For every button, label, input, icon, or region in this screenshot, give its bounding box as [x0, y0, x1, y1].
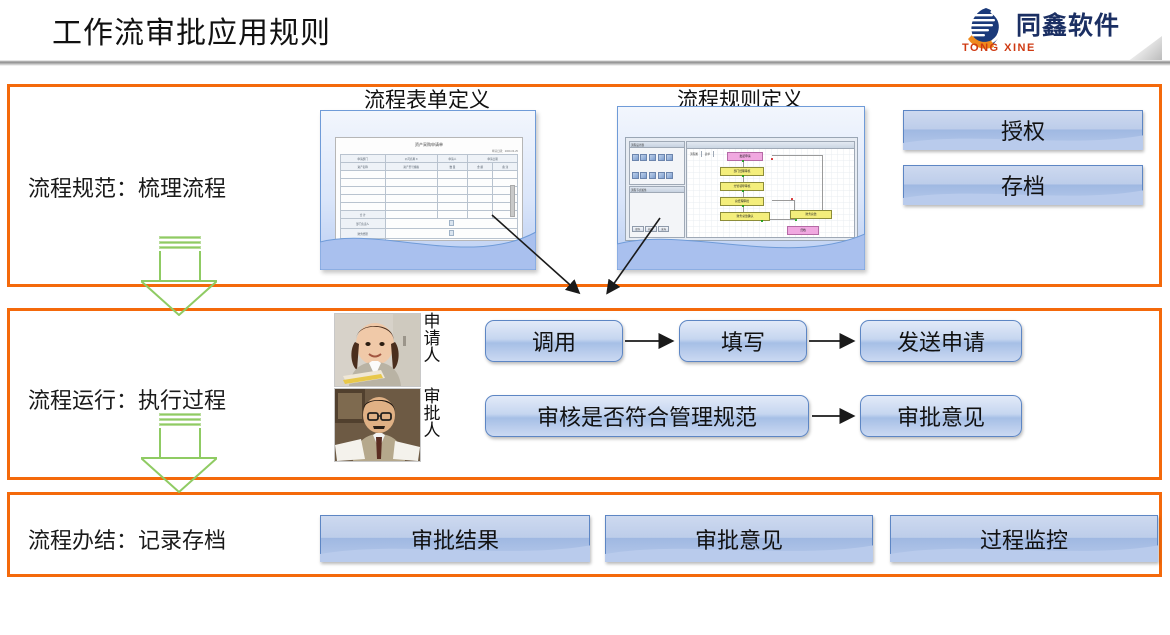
arrow-stem — [159, 251, 201, 281]
approval-result-button-label: 审批结果 — [411, 523, 499, 555]
compliance-check-button-label: 审核是否符合管理规范 — [537, 400, 757, 432]
connector — [772, 155, 822, 156]
arrow-stem — [159, 428, 201, 458]
designer-tabs: 流程图表单 — [687, 142, 854, 149]
port-dot — [742, 205, 744, 207]
tab-flowchart[interactable]: 流程图 — [687, 151, 702, 156]
send-application-button[interactable]: 发送申请 — [860, 320, 1022, 362]
rule-definition-thumbnail[interactable]: 流程设计器 流程节点属性 保存校验发布 流程图表单 — [617, 106, 865, 270]
approver-role-label: 审批人 — [421, 387, 439, 438]
page-header: 工作流审批应用规则 同鑫软件 TONG XINE — [0, 0, 1170, 62]
cell — [437, 211, 467, 219]
port-dot — [761, 220, 763, 222]
cell: 资产型号规格 — [385, 163, 437, 171]
cell — [437, 203, 467, 211]
cell — [493, 171, 518, 179]
cell — [437, 179, 467, 187]
form-screenshot-date: 申请日期：2009-03-25 — [336, 149, 522, 153]
cell — [468, 171, 493, 179]
table-row — [340, 179, 518, 187]
cell: 申请部门 — [340, 155, 385, 163]
cell — [468, 179, 493, 187]
connector — [794, 200, 795, 210]
tool-icon[interactable] — [666, 154, 673, 161]
table-row: 合 计 — [340, 211, 518, 219]
approval-opinion-record-button[interactable]: 审批意见 — [605, 515, 873, 562]
card-wave-decoration — [320, 224, 536, 270]
card-wave-decoration — [617, 224, 865, 270]
logo-pinyin: TONG XINE — [962, 42, 1036, 54]
logo-wordmark: 同鑫软件 — [1016, 6, 1120, 42]
tool-icon[interactable] — [658, 172, 665, 179]
cell — [340, 171, 385, 179]
connector — [772, 200, 794, 201]
cell: 数 量 — [437, 163, 467, 171]
cell — [385, 203, 437, 211]
approval-opinion-button[interactable]: 审批意见 — [860, 395, 1022, 437]
process-monitoring-button[interactable]: 过程监控 — [890, 515, 1158, 562]
cell — [468, 195, 493, 203]
invoke-button[interactable]: 调用 — [485, 320, 623, 362]
cell: 备 注 — [493, 163, 518, 171]
cell — [340, 203, 385, 211]
company-logo: 同鑫软件 TONG XINE — [962, 2, 1162, 60]
cell — [340, 187, 385, 195]
cell — [385, 195, 437, 203]
form-screenshot-title: 资产采购申请单 — [336, 138, 522, 149]
cell — [340, 179, 385, 187]
tool-icon[interactable] — [658, 154, 665, 161]
port-dot — [742, 190, 744, 192]
invoke-button-label: 调用 — [532, 325, 576, 357]
cell: 金 额 — [468, 163, 493, 171]
error-dot — [791, 198, 793, 200]
cell — [385, 211, 437, 219]
section-1-label: 流程规范：梳理流程 — [28, 171, 226, 203]
port-dot — [795, 219, 797, 221]
toolbox-icons — [630, 148, 684, 186]
section-3-label: 流程办结：记录存档 — [28, 523, 226, 555]
cell — [437, 171, 467, 179]
archive-button[interactable]: 存档 — [903, 165, 1143, 205]
cell — [385, 179, 437, 187]
tool-icon[interactable] — [640, 154, 647, 161]
arrow-stripes — [159, 413, 201, 427]
section-2-label: 流程运行：执行过程 — [28, 383, 226, 415]
cell — [385, 171, 437, 179]
flow-node[interactable]: 财务总监 — [790, 210, 832, 219]
tool-icon[interactable] — [666, 172, 673, 179]
flow-node[interactable]: 发起申请 — [727, 152, 763, 161]
arrow-head — [141, 280, 217, 316]
cell — [437, 195, 467, 203]
connector — [822, 155, 823, 213]
approver-photo — [334, 388, 421, 462]
cell — [437, 187, 467, 195]
down-arrow-step-2-to-3 — [141, 413, 217, 495]
table-row: 申请部门 公司名称 X 申请人 申请日期 — [340, 155, 518, 163]
designer-toolbox-panel: 流程设计器 — [629, 141, 685, 185]
process-monitoring-button-label: 过程监控 — [980, 523, 1068, 555]
cell — [468, 203, 493, 211]
send-application-button-label: 发送申请 — [897, 325, 985, 357]
page-fold-decoration — [1127, 36, 1162, 62]
arrow-head — [141, 457, 217, 493]
authorize-button[interactable]: 授权 — [903, 110, 1143, 150]
tab-form[interactable]: 表单 — [702, 151, 714, 156]
cell: 资产名称 — [340, 163, 385, 171]
port-dot — [742, 160, 744, 162]
tool-icon[interactable] — [632, 172, 639, 179]
header-divider — [0, 60, 1170, 66]
cell — [468, 187, 493, 195]
cell — [340, 195, 385, 203]
approval-opinion-button-label: 审批意见 — [897, 400, 985, 432]
tool-icon[interactable] — [632, 154, 639, 161]
cell — [468, 211, 493, 219]
tool-icon[interactable] — [640, 172, 647, 179]
cell: 合 计 — [340, 211, 385, 219]
table-row — [340, 171, 518, 179]
tool-icon[interactable] — [649, 172, 656, 179]
approval-result-button[interactable]: 审批结果 — [320, 515, 590, 562]
tool-icon[interactable] — [649, 154, 656, 161]
applicant-photo — [334, 313, 421, 387]
down-arrow-step-1-to-2 — [141, 236, 217, 318]
authorize-button-label: 授权 — [1001, 114, 1045, 146]
cell: 申请日期 — [468, 155, 518, 163]
table-row — [340, 203, 518, 211]
applicant-role-label: 申请人 — [421, 312, 439, 363]
fill-button-label: 填写 — [721, 325, 765, 357]
compliance-check-button[interactable]: 审核是否符合管理规范 — [485, 395, 809, 437]
cell: 申请人 — [437, 155, 467, 163]
scrollbar[interactable] — [510, 185, 515, 217]
cell — [385, 187, 437, 195]
port-dot — [742, 175, 744, 177]
panel-title: 流程节点属性 — [630, 187, 684, 193]
archive-button-label: 存档 — [1001, 169, 1045, 201]
form-definition-thumbnail[interactable]: 资产采购申请单 申请日期：2009-03-25 申请部门 公司名称 X 申请人 … — [320, 110, 536, 270]
table-row — [340, 195, 518, 203]
page-title: 工作流审批应用规则 — [52, 8, 331, 52]
error-dot — [771, 158, 773, 160]
cell: 公司名称 X — [385, 155, 437, 163]
fill-button[interactable]: 填写 — [679, 320, 807, 362]
table-row: 资产名称 资产型号规格 数 量 金 额 备 注 — [340, 163, 518, 171]
table-row — [340, 187, 518, 195]
arrow-stripes — [159, 236, 201, 250]
approval-opinion-record-button-label: 审批意见 — [695, 523, 783, 555]
